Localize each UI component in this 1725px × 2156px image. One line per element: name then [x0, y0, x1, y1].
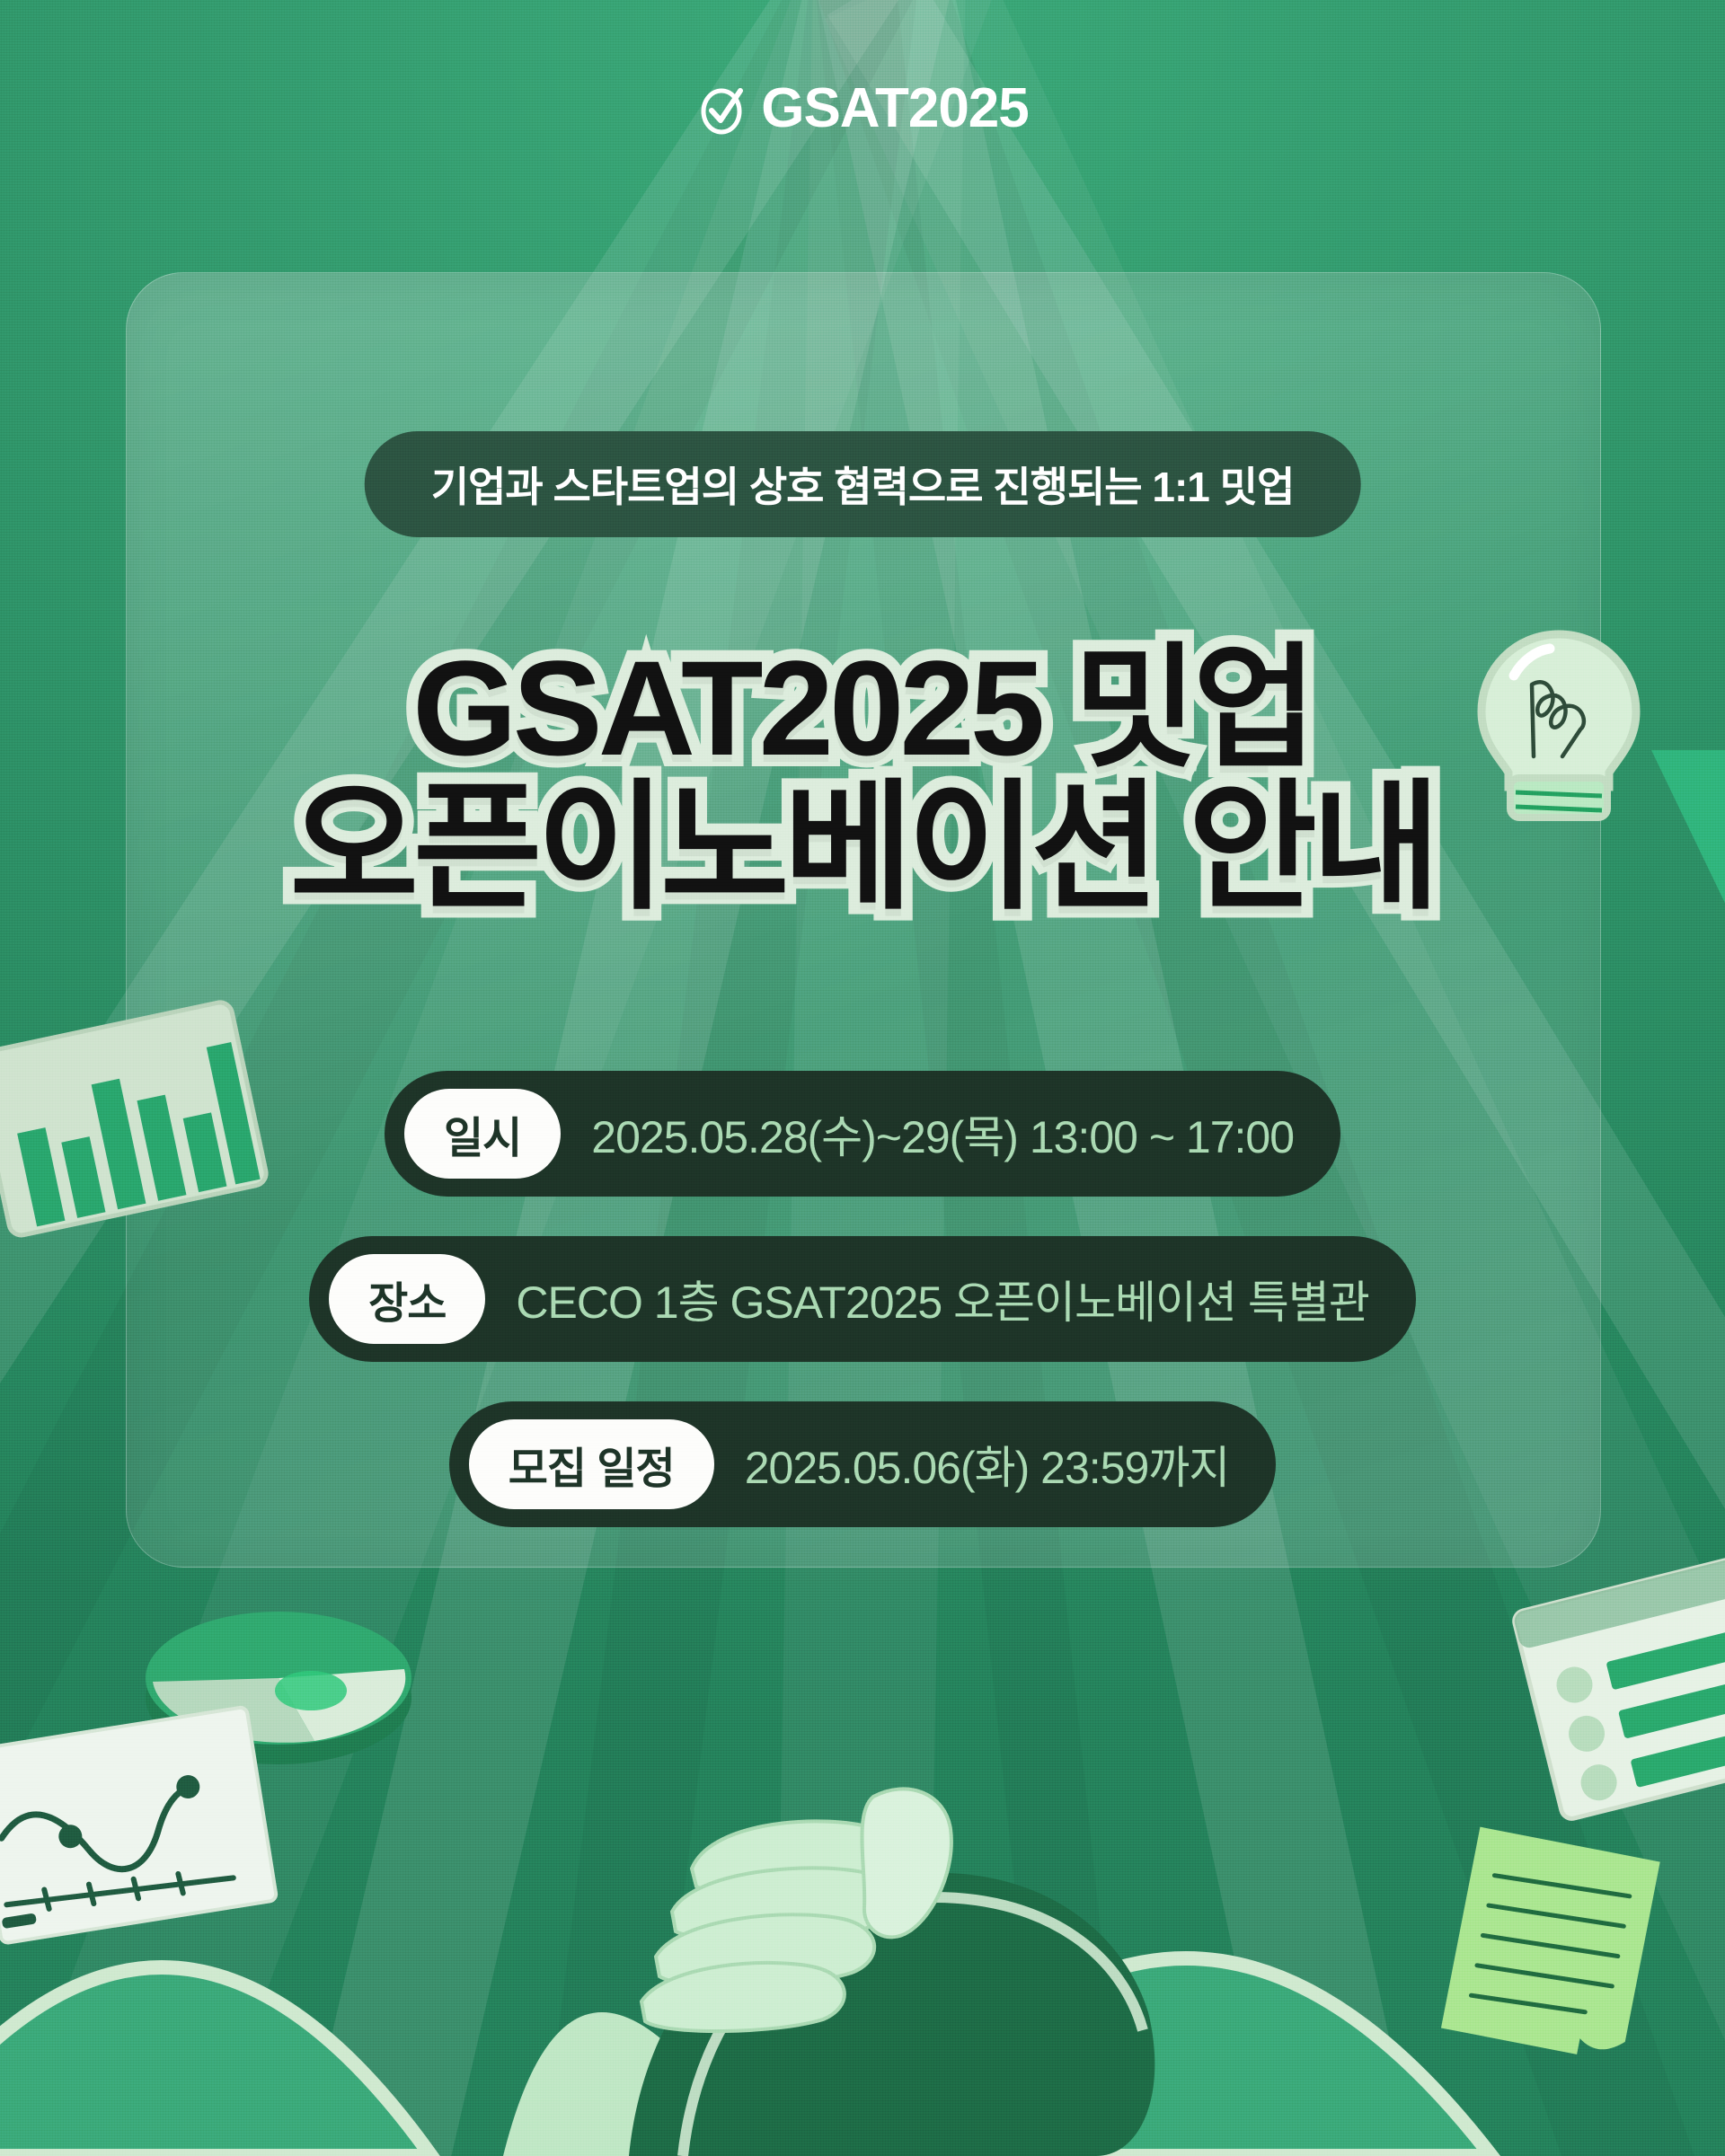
check-circle-icon: [696, 83, 748, 135]
logo-text: GSAT2025: [761, 81, 1029, 137]
info-value: 2025.05.28(수)~29(목) 13:00 ~ 17:00: [591, 1101, 1294, 1166]
subtitle-pill: 기업과 스타트업의 상호 협력으로 진행되는 1:1 밋업: [365, 431, 1361, 537]
note-document: [1415, 1804, 1694, 2104]
triangle-shape: [1651, 750, 1725, 944]
info-value: 2025.05.06(화) 23:59까지: [745, 1432, 1230, 1497]
info-label: 모집 일정: [469, 1419, 714, 1509]
info-label: 일시: [404, 1089, 561, 1179]
info-value: CECO 1층 GSAT2025 오픈이노베이션 특별관: [516, 1267, 1368, 1331]
info-row-venue: 장소 CECO 1층 GSAT2025 오픈이노베이션 특별관: [309, 1236, 1416, 1362]
brand-logo: GSAT2025: [0, 81, 1725, 137]
subtitle-text: 기업과 스타트업의 상호 협력으로 진행되는 1:1 밋업: [431, 455, 1295, 514]
poster-canvas: GSAT2025 기업과 스타트업의 상호 협력으로 진행되는 1:1 밋업 G…: [0, 0, 1725, 2156]
info-list: 일시 2025.05.28(수)~29(목) 13:00 ~ 17:00 장소 …: [0, 1071, 1725, 1527]
info-label: 장소: [329, 1254, 485, 1344]
lightbulb-illustration: [1460, 620, 1658, 826]
info-row-deadline: 모집 일정 2025.05.06(화) 23:59까지: [449, 1401, 1277, 1527]
line-graph-card: [0, 1696, 293, 1965]
info-row-date: 일시 2025.05.28(수)~29(목) 13:00 ~ 17:00: [385, 1071, 1340, 1197]
